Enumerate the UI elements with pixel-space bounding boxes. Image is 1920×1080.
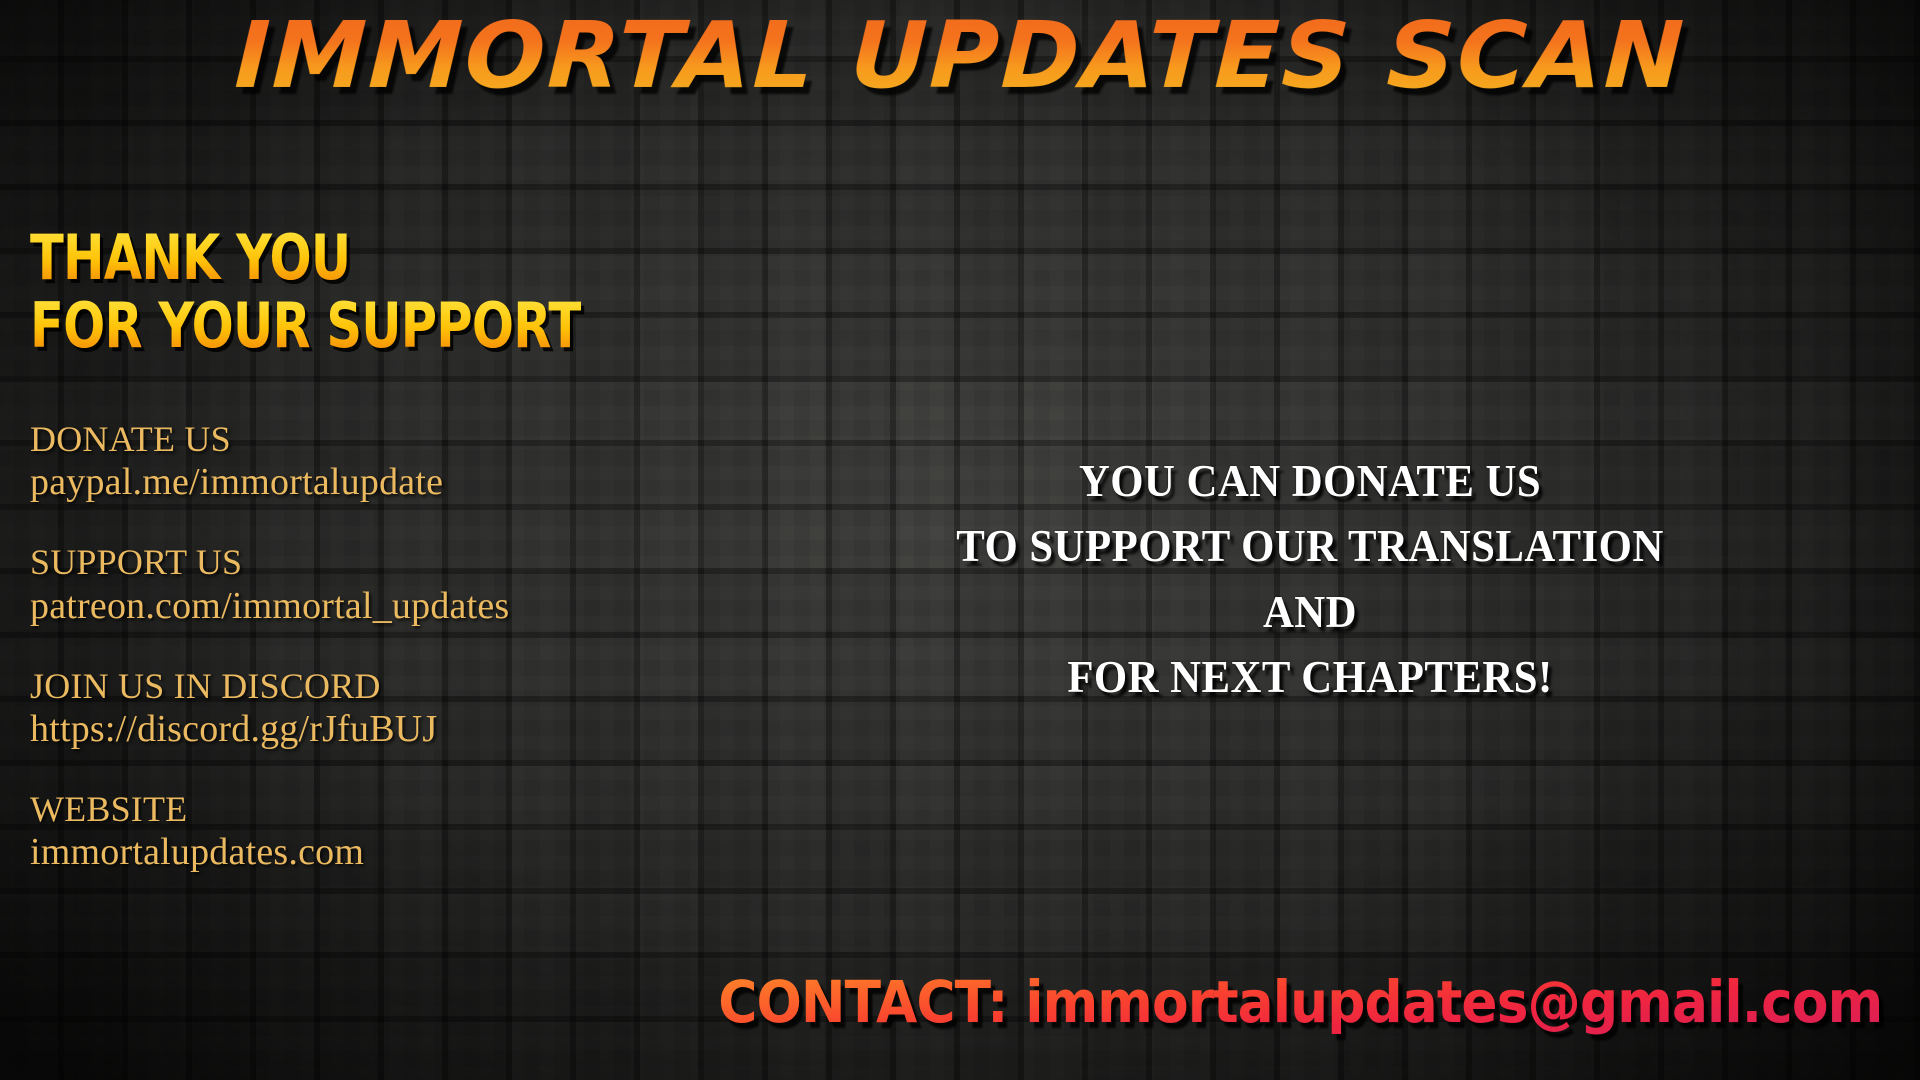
discord-label: JOIN US IN DISCORD	[30, 665, 750, 707]
thank-you-heading: THANK YOU FOR YOUR SUPPORT	[30, 228, 719, 363]
donate-message-line-3: FOR NEXT CHAPTERS!	[910, 644, 1710, 709]
donate-message-line-2: TO SUPPORT OUR TRANSLATION AND	[910, 513, 1710, 644]
donate-paypal-link[interactable]: paypal.me/immortalupdate	[30, 460, 750, 505]
contact-container: CONTACT: immortalupdates@gmail.com	[0, 968, 1920, 1036]
thank-you-line-1: THANK YOU	[30, 228, 581, 288]
link-group-donate: DONATE US paypal.me/immortalupdate	[30, 418, 750, 505]
thank-you-line-2: FOR YOUR SUPPORT	[30, 296, 581, 356]
support-patreon-link[interactable]: patreon.com/immortal_updates	[30, 584, 750, 629]
donate-message: YOU CAN DONATE US TO SUPPORT OUR TRANSLA…	[880, 448, 1740, 709]
contact-email-line[interactable]: CONTACT: immortalupdates@gmail.com	[718, 968, 1882, 1036]
donate-message-line-1: YOU CAN DONATE US	[910, 448, 1710, 513]
support-label: SUPPORT US	[30, 541, 750, 583]
support-links-list: DONATE US paypal.me/immortalupdate SUPPO…	[30, 418, 750, 911]
link-group-website: WEBSITE immortalupdates.com	[30, 788, 750, 875]
website-link[interactable]: immortalupdates.com	[30, 830, 750, 875]
discord-invite-link[interactable]: https://discord.gg/rJfuBUJ	[30, 707, 750, 752]
page-title-container: IMMORTAL UPDATES SCAN	[0, 8, 1920, 105]
donate-label: DONATE US	[30, 418, 750, 460]
support-page: IMMORTAL UPDATES SCAN THANK YOU FOR YOUR…	[0, 0, 1920, 1080]
link-group-discord: JOIN US IN DISCORD https://discord.gg/rJ…	[30, 665, 750, 752]
page-title: IMMORTAL UPDATES SCAN	[233, 8, 1687, 105]
link-group-support: SUPPORT US patreon.com/immortal_updates	[30, 541, 750, 628]
website-label: WEBSITE	[30, 788, 750, 830]
